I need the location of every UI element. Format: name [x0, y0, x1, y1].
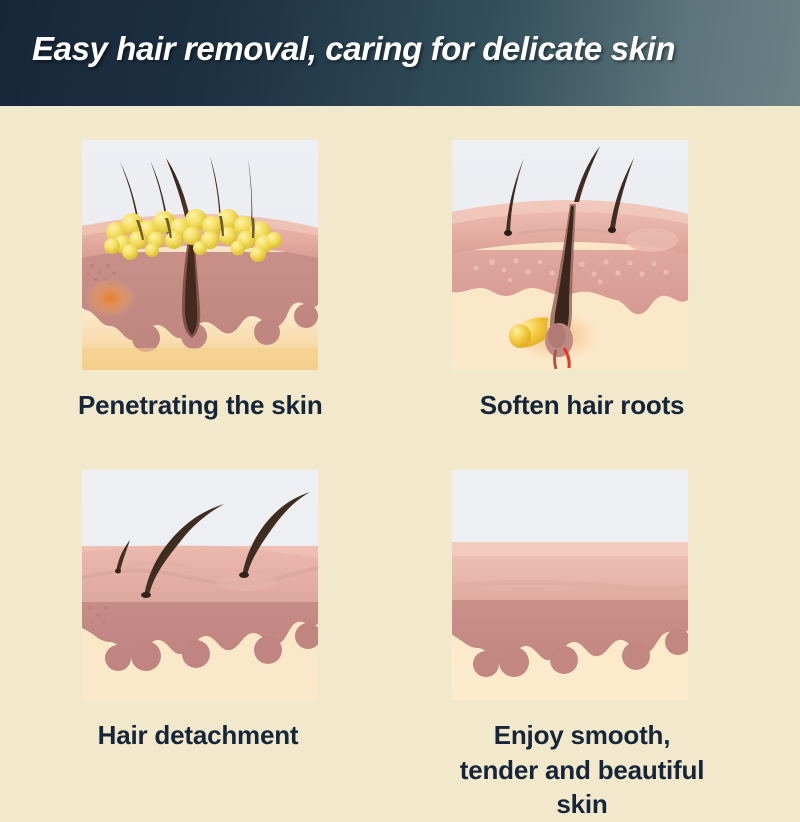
step-card-3: Hair detachment	[82, 470, 318, 753]
smooth-hairless-skin-svg	[452, 470, 688, 700]
step-card-2: Soften hair roots	[452, 140, 688, 423]
step-card-1: Penetrating the skin	[82, 140, 318, 423]
detached-hairs-on-skin-svg	[82, 470, 318, 700]
step-2-caption: Soften hair roots	[464, 388, 700, 423]
cream-droplets-on-skin-with-hairs-svg	[82, 140, 318, 370]
step-4-caption-line-1: Enjoy smooth,	[452, 718, 712, 753]
product-infographic: Easy hair removal, caring for delicate s…	[0, 0, 800, 800]
hair-follicle-with-softened-root-svg	[452, 140, 688, 370]
step-2-illustration	[452, 140, 688, 370]
step-4-caption-line-2: tender and beautiful skin	[452, 753, 712, 822]
page-title: Easy hair removal, caring for delicate s…	[32, 30, 675, 68]
epidermis-layer	[82, 546, 318, 602]
header-banner: Easy hair removal, caring for delicate s…	[0, 0, 800, 106]
step-1-caption: Penetrating the skin	[78, 388, 314, 423]
step-card-4: Enjoy smooth, tender and beautiful skin	[452, 470, 700, 822]
irritation-glow	[84, 278, 136, 318]
steps-grid: Penetrating the skin	[0, 106, 800, 800]
step-4-caption: Enjoy smooth, tender and beautiful skin	[452, 718, 712, 822]
step-4-illustration	[452, 470, 688, 700]
step-3-caption: Hair detachment	[80, 718, 316, 753]
step-1-illustration	[82, 140, 318, 370]
step-3-illustration	[82, 470, 318, 700]
